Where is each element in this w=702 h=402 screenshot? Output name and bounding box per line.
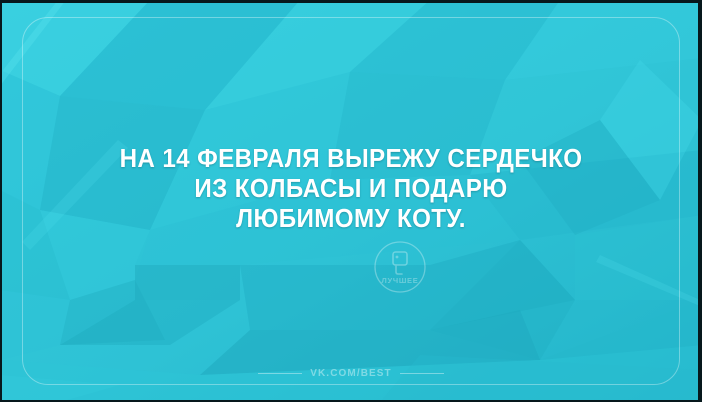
- low-poly-background: [0, 0, 702, 402]
- joke-card: ЛУЧШЕЕ НА 14 ФЕВРАЛЯ ВЫРЕЖУ СЕРДЕЧКО ИЗ …: [0, 0, 702, 402]
